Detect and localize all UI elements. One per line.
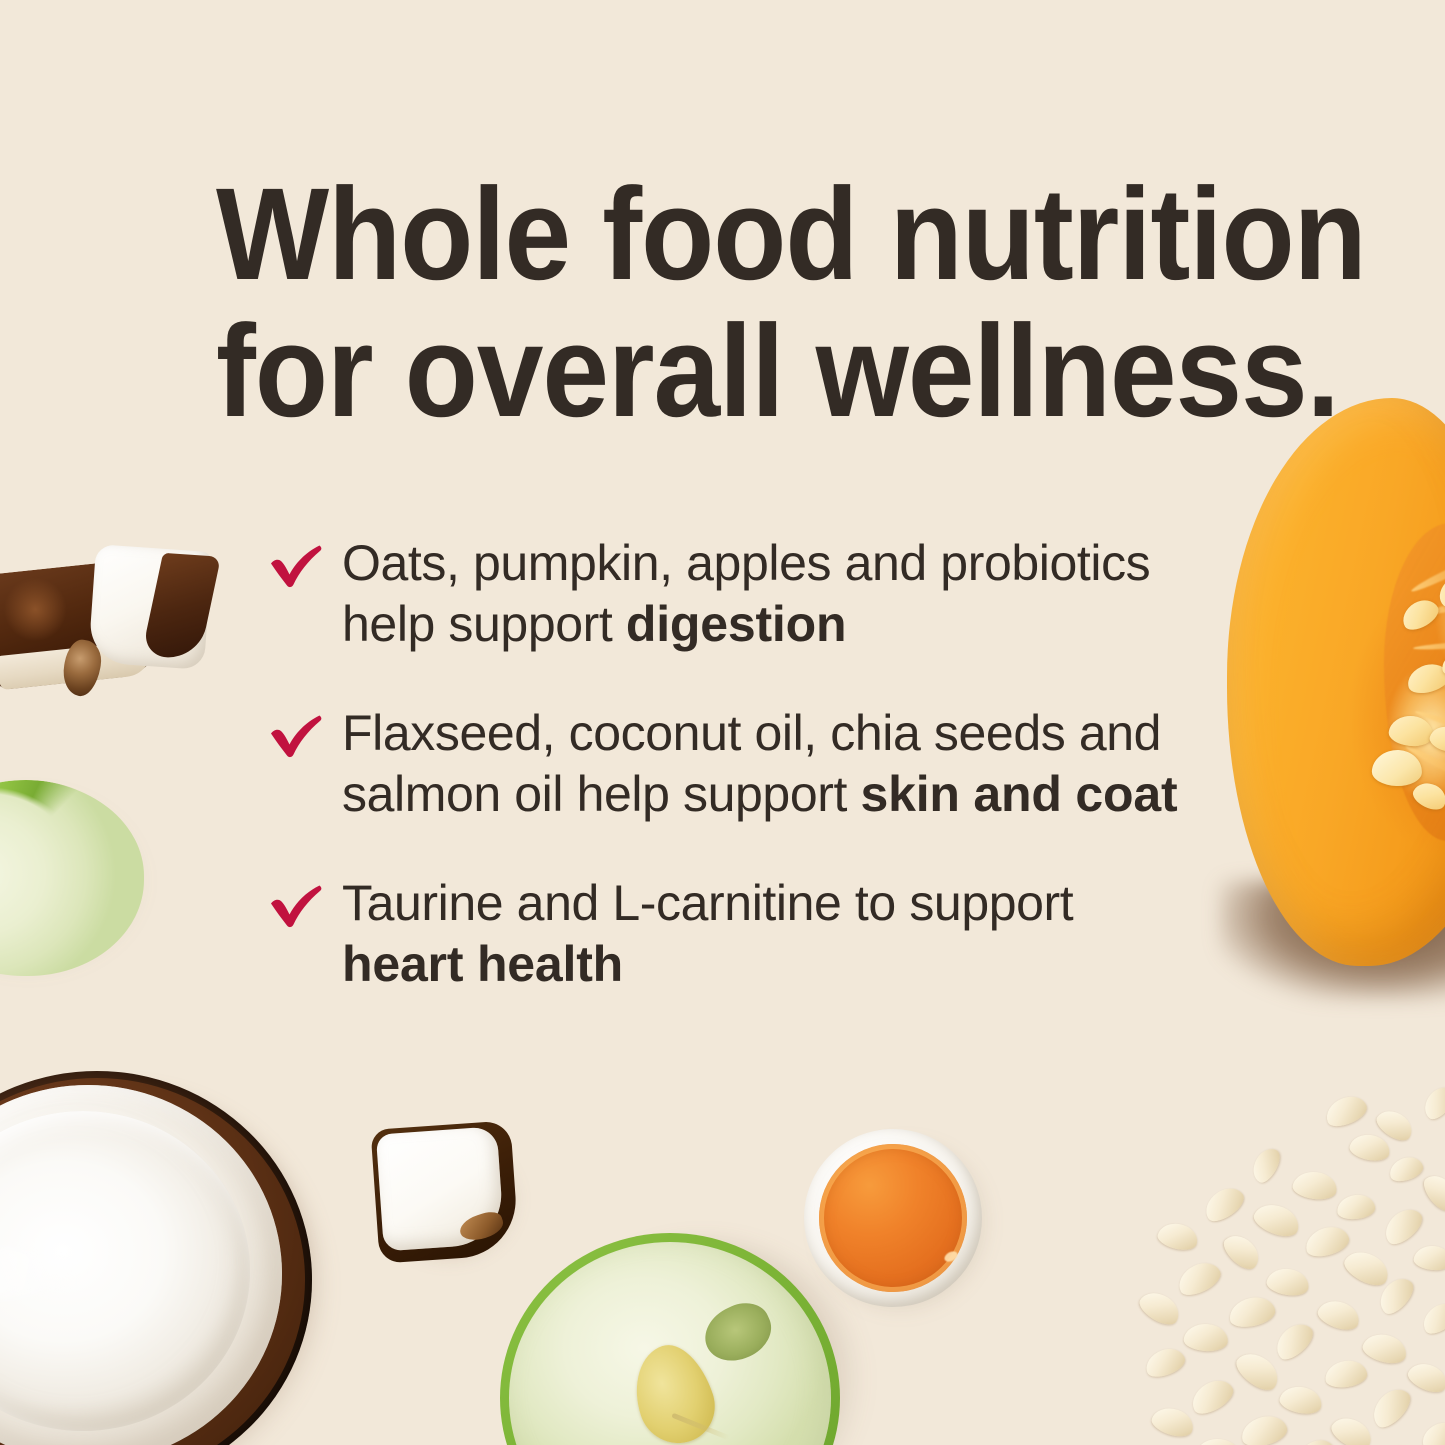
headline-line-2: for overall wellness. xyxy=(216,305,1186,436)
oat-flake xyxy=(1239,1411,1290,1445)
oat-flake xyxy=(1303,1222,1353,1260)
oat-flake xyxy=(1226,1294,1277,1331)
check-icon xyxy=(268,543,324,589)
oat-flake xyxy=(1379,1203,1428,1250)
list-item-emphasis: skin and coat xyxy=(860,766,1177,822)
list-item-text: Flaxseed, coconut oil, chia seeds and sa… xyxy=(342,703,1198,825)
oat-flake xyxy=(1418,1169,1445,1216)
oat-flake xyxy=(1413,1244,1445,1272)
list-item-emphasis: heart health xyxy=(342,936,623,992)
oat-flake xyxy=(1231,1346,1284,1396)
oat-flake xyxy=(1174,1257,1225,1301)
oat-flake xyxy=(1195,1436,1242,1445)
oat-flake xyxy=(1247,1144,1284,1186)
rolled-oats-image xyxy=(1139,1091,1445,1445)
salmon-oil-bowl-image xyxy=(804,1129,982,1307)
oat-flake xyxy=(1291,1169,1338,1202)
oat-flake xyxy=(1183,1323,1229,1353)
oat-flake xyxy=(1417,1297,1445,1338)
oat-flake xyxy=(1340,1245,1394,1291)
oat-flake xyxy=(1219,1229,1265,1275)
oil-meniscus xyxy=(819,1144,967,1292)
list-item: Taurine and L-carnitine to support heart… xyxy=(268,873,1198,995)
oat-flake xyxy=(1404,1358,1445,1397)
apple-slice-peel xyxy=(0,780,144,976)
oat-flake xyxy=(1321,1091,1370,1131)
check-icon xyxy=(268,713,324,759)
coconut-flake-image xyxy=(370,1120,519,1263)
oat-flake xyxy=(1315,1295,1363,1334)
oat-flake xyxy=(1156,1220,1201,1254)
list-item-emphasis: digestion xyxy=(626,596,846,652)
oat-flake xyxy=(1336,1193,1376,1221)
oat-flake xyxy=(1186,1374,1238,1419)
oat-flake xyxy=(1360,1330,1410,1368)
oat-flake xyxy=(1366,1383,1416,1433)
pumpkin-half-image xyxy=(1227,398,1445,966)
oat-flake xyxy=(1199,1181,1248,1226)
oat-flake xyxy=(1149,1403,1197,1441)
oat-flake xyxy=(1135,1285,1184,1329)
headline-line-1: Whole food nutrition xyxy=(216,168,1186,299)
oat-flake xyxy=(1142,1344,1188,1381)
page-title: Whole food nutrition for overall wellnes… xyxy=(216,168,1276,436)
oat-flake xyxy=(1278,1383,1324,1417)
oat-flake xyxy=(1386,1153,1425,1184)
apple-half-image xyxy=(500,1233,840,1445)
oat-flake xyxy=(1323,1358,1368,1390)
coconut-chunk-image xyxy=(88,544,212,670)
oat-flake xyxy=(1265,1265,1311,1298)
list-item-text: Oats, pumpkin, apples and probiotics hel… xyxy=(342,533,1198,655)
oat-flake xyxy=(1270,1317,1319,1364)
oat-flake xyxy=(1348,1132,1392,1165)
list-item: Oats, pumpkin, apples and probiotics hel… xyxy=(268,533,1198,655)
oat-flake xyxy=(1251,1198,1304,1241)
oat-flake xyxy=(1418,1081,1445,1123)
apple-slice-image xyxy=(0,780,144,976)
oat-flake xyxy=(1327,1412,1376,1445)
benefit-list: Oats, pumpkin, apples and probiotics hel… xyxy=(268,533,1198,995)
list-item-text: Taurine and L-carnitine to support heart… xyxy=(342,873,1198,995)
check-icon xyxy=(268,883,324,929)
infographic-canvas: Whole food nutrition for overall wellnes… xyxy=(0,0,1445,1445)
list-item: Flaxseed, coconut oil, chia seeds and sa… xyxy=(268,703,1198,825)
coconut-half-image xyxy=(0,1071,312,1445)
oat-flake xyxy=(1417,1417,1445,1445)
oat-flake xyxy=(1289,1433,1338,1445)
oat-flake xyxy=(1380,1441,1429,1445)
